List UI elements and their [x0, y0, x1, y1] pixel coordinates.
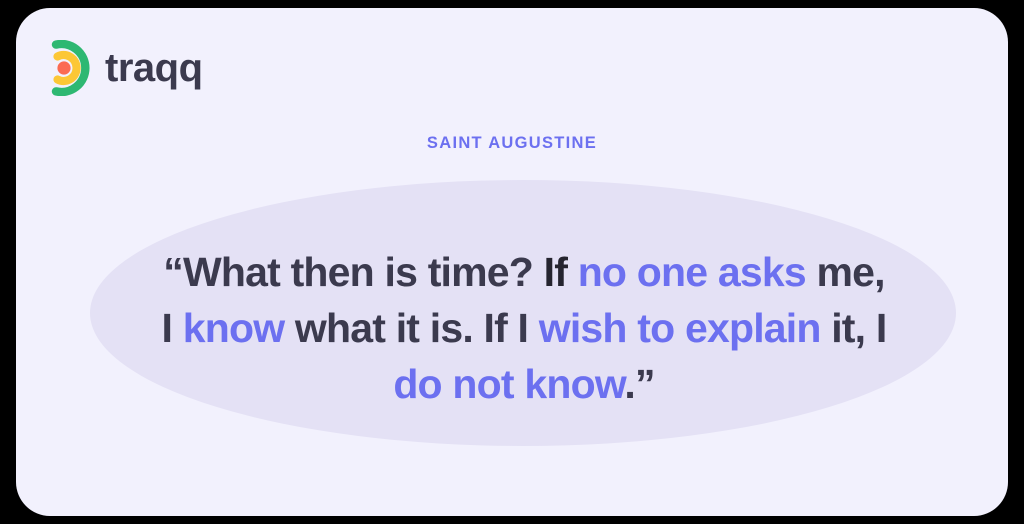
quote-segment: me,: [806, 249, 885, 295]
quote-segment: .”: [624, 361, 654, 407]
traqq-logo-icon: [36, 40, 92, 96]
brand-wordmark: traqq: [105, 48, 203, 88]
quote-segment: what it is. If I: [284, 305, 538, 351]
quote-segment: “What then is time?: [163, 249, 543, 295]
quote-segment: If: [544, 249, 578, 295]
quote-line: I know what it is. If I wish to explain …: [96, 300, 952, 356]
quote-highlight: wish to explain: [539, 305, 821, 351]
quote-highlight: do not know: [393, 361, 624, 407]
quote-text: “What then is time? If no one asks me,I …: [96, 244, 952, 412]
quote-card: traqq SAINT AUGUSTINE “What then is time…: [16, 8, 1008, 516]
quote-line: “What then is time? If no one asks me,: [96, 244, 952, 300]
quote-segment: I: [162, 305, 183, 351]
quote-attribution: SAINT AUGUSTINE: [16, 134, 1008, 153]
quote-line: do not know.”: [96, 356, 952, 412]
brand-logo[interactable]: traqq: [36, 40, 203, 96]
quote-highlight: no one asks: [578, 249, 806, 295]
quote-highlight: know: [183, 305, 285, 351]
quote-segment: it, I: [821, 305, 887, 351]
screen: traqq SAINT AUGUSTINE “What then is time…: [0, 0, 1024, 524]
